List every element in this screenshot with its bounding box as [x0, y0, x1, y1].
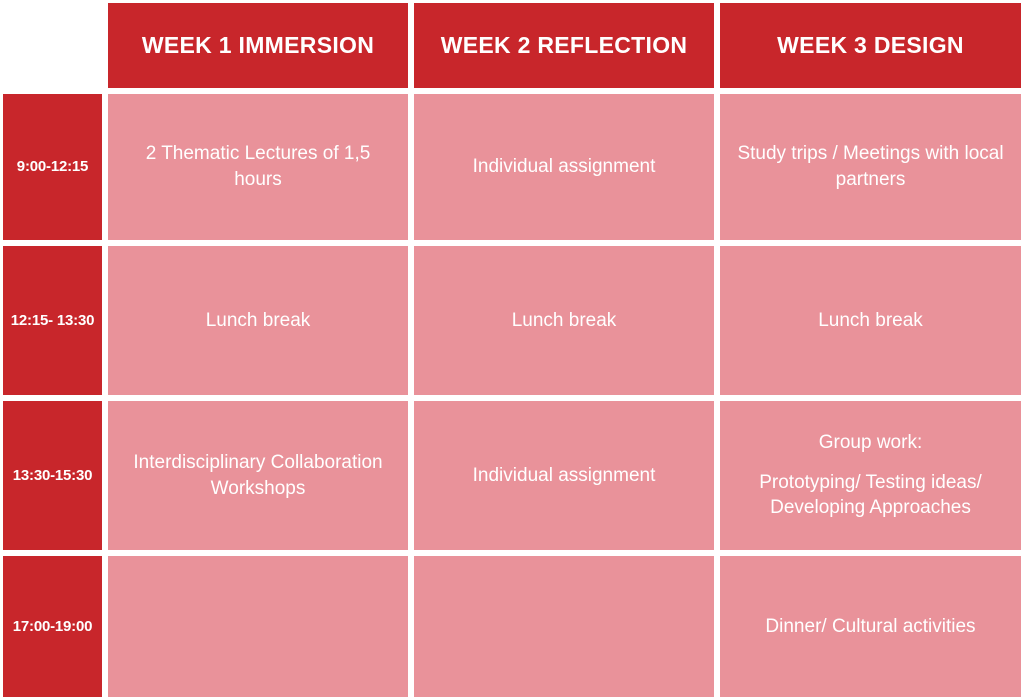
- cell-line: Prototyping/ Testing ideas/: [759, 470, 982, 496]
- row-time-label: 17:00-19:00: [0, 553, 105, 700]
- cell-line: Dinner/ Cultural activities: [765, 614, 975, 640]
- column-header-week2: WEEK 2 REFLECTION: [411, 0, 717, 91]
- cell-line-spacer: [759, 456, 982, 470]
- table-cell: [411, 553, 717, 700]
- cell-line: Lunch break: [818, 308, 923, 334]
- table-cell: Study trips / Meetings with local partne…: [717, 91, 1024, 243]
- row-time-label: 13:30-15:30: [0, 398, 105, 553]
- cell-line: Study trips / Meetings with local partne…: [734, 141, 1007, 192]
- column-header-week1: WEEK 1 IMMERSION: [105, 0, 411, 91]
- cell-line: Individual assignment: [473, 154, 656, 180]
- table-cell: Interdisciplinary Collaboration Workshop…: [105, 398, 411, 553]
- column-header-week3: WEEK 3 DESIGN: [717, 0, 1024, 91]
- cell-line: Individual assignment: [473, 463, 656, 489]
- cell-line: Lunch break: [512, 308, 617, 334]
- table-cell: Individual assignment: [411, 398, 717, 553]
- table-cell: Lunch break: [717, 243, 1024, 398]
- table-corner-cell: [0, 0, 105, 91]
- table-cell: 2 Thematic Lectures of 1,5 hours: [105, 91, 411, 243]
- cell-line: Developing Approaches: [759, 495, 982, 521]
- table-cell: Individual assignment: [411, 91, 717, 243]
- cell-line: Group work:: [759, 430, 982, 456]
- cell-line: Lunch break: [206, 308, 311, 334]
- row-time-label: 12:15- 13:30: [0, 243, 105, 398]
- table-cell: Lunch break: [105, 243, 411, 398]
- row-time-label: 9:00-12:15: [0, 91, 105, 243]
- cell-line: 2 Thematic Lectures of 1,5 hours: [122, 141, 394, 192]
- table-cell: Dinner/ Cultural activities: [717, 553, 1024, 700]
- table-cell: Group work: Prototyping/ Testing ideas/ …: [717, 398, 1024, 553]
- weekly-schedule-table: WEEK 1 IMMERSION WEEK 2 REFLECTION WEEK …: [0, 0, 1024, 700]
- cell-line: Interdisciplinary Collaboration Workshop…: [122, 450, 394, 501]
- table-cell: Lunch break: [411, 243, 717, 398]
- table-cell: [105, 553, 411, 700]
